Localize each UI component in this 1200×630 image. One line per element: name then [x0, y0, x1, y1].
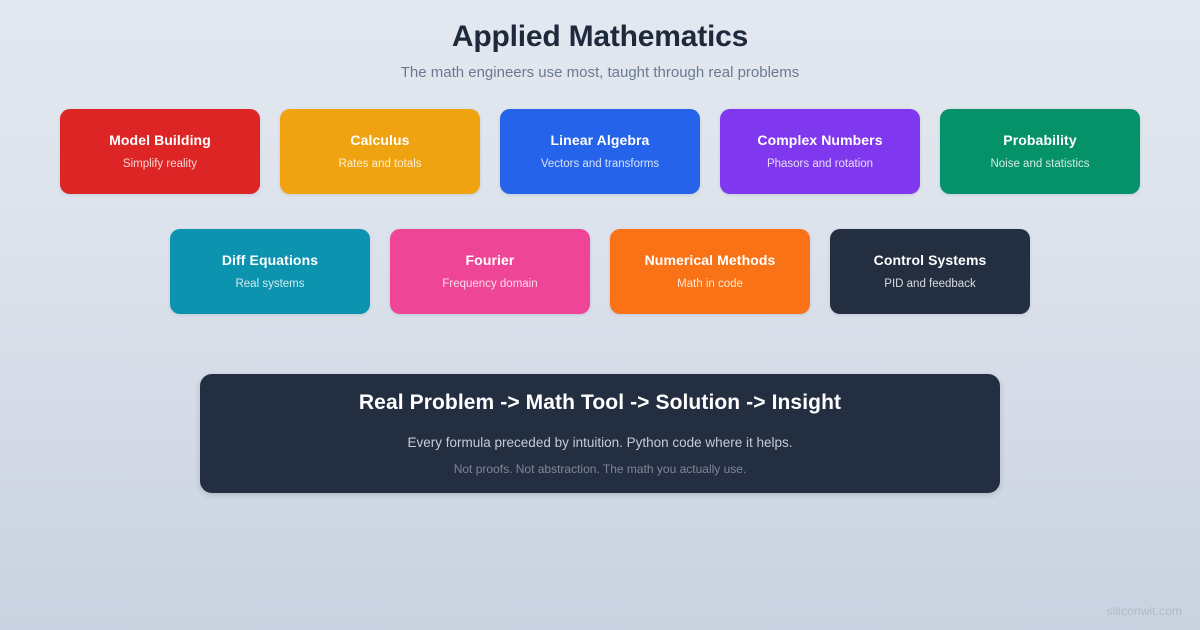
topic-card[interactable]: Diff EquationsReal systems: [170, 229, 370, 314]
topic-card[interactable]: CalculusRates and totals: [280, 109, 480, 194]
topic-card-subtitle: Simplify reality: [123, 157, 197, 171]
topic-card-title: Diff Equations: [222, 252, 318, 269]
topic-row-secondary: Diff EquationsReal systemsFourierFrequen…: [0, 229, 1200, 314]
topic-card-subtitle: Frequency domain: [442, 277, 537, 291]
topic-card-title: Control Systems: [874, 252, 987, 269]
banner-subtext-primary: Every formula preceded by intuition. Pyt…: [408, 434, 793, 451]
slide-canvas: Applied Mathematics The math engineers u…: [0, 0, 1200, 630]
topic-card-title: Calculus: [350, 132, 409, 149]
topic-card[interactable]: ProbabilityNoise and statistics: [940, 109, 1140, 194]
header: Applied Mathematics The math engineers u…: [0, 0, 1200, 82]
topic-card-title: Model Building: [109, 132, 211, 149]
footer-watermark: siliconwit.com: [1107, 604, 1182, 618]
banner-subtext-secondary: Not proofs. Not abstraction. The math yo…: [454, 462, 747, 477]
page-subtitle: The math engineers use most, taught thro…: [0, 64, 1200, 82]
topic-card[interactable]: Linear AlgebraVectors and transforms: [500, 109, 700, 194]
workflow-banner: Real Problem -> Math Tool -> Solution ->…: [200, 374, 1000, 493]
topic-card-subtitle: Real systems: [235, 277, 304, 291]
topic-card-title: Complex Numbers: [757, 132, 882, 149]
topic-card-title: Linear Algebra: [551, 132, 650, 149]
topic-card-subtitle: Vectors and transforms: [541, 157, 659, 171]
topic-card-subtitle: Math in code: [677, 277, 743, 291]
topic-row-primary: Model BuildingSimplify realityCalculusRa…: [0, 109, 1200, 194]
topic-card-title: Numerical Methods: [645, 252, 776, 269]
topic-card-title: Probability: [1003, 132, 1076, 149]
banner-headline: Real Problem -> Math Tool -> Solution ->…: [359, 390, 841, 415]
topic-card-title: Fourier: [466, 252, 515, 269]
topic-card[interactable]: Model BuildingSimplify reality: [60, 109, 260, 194]
topic-card[interactable]: Numerical MethodsMath in code: [610, 229, 810, 314]
topic-card-subtitle: PID and feedback: [884, 277, 975, 291]
banner-container: Real Problem -> Math Tool -> Solution ->…: [0, 374, 1200, 493]
topic-card[interactable]: Control SystemsPID and feedback: [830, 229, 1030, 314]
topic-card-subtitle: Phasors and rotation: [767, 157, 873, 171]
page-title: Applied Mathematics: [0, 20, 1200, 54]
topic-card[interactable]: Complex NumbersPhasors and rotation: [720, 109, 920, 194]
topic-card-subtitle: Rates and totals: [338, 157, 421, 171]
topic-card[interactable]: FourierFrequency domain: [390, 229, 590, 314]
topic-card-subtitle: Noise and statistics: [990, 157, 1089, 171]
